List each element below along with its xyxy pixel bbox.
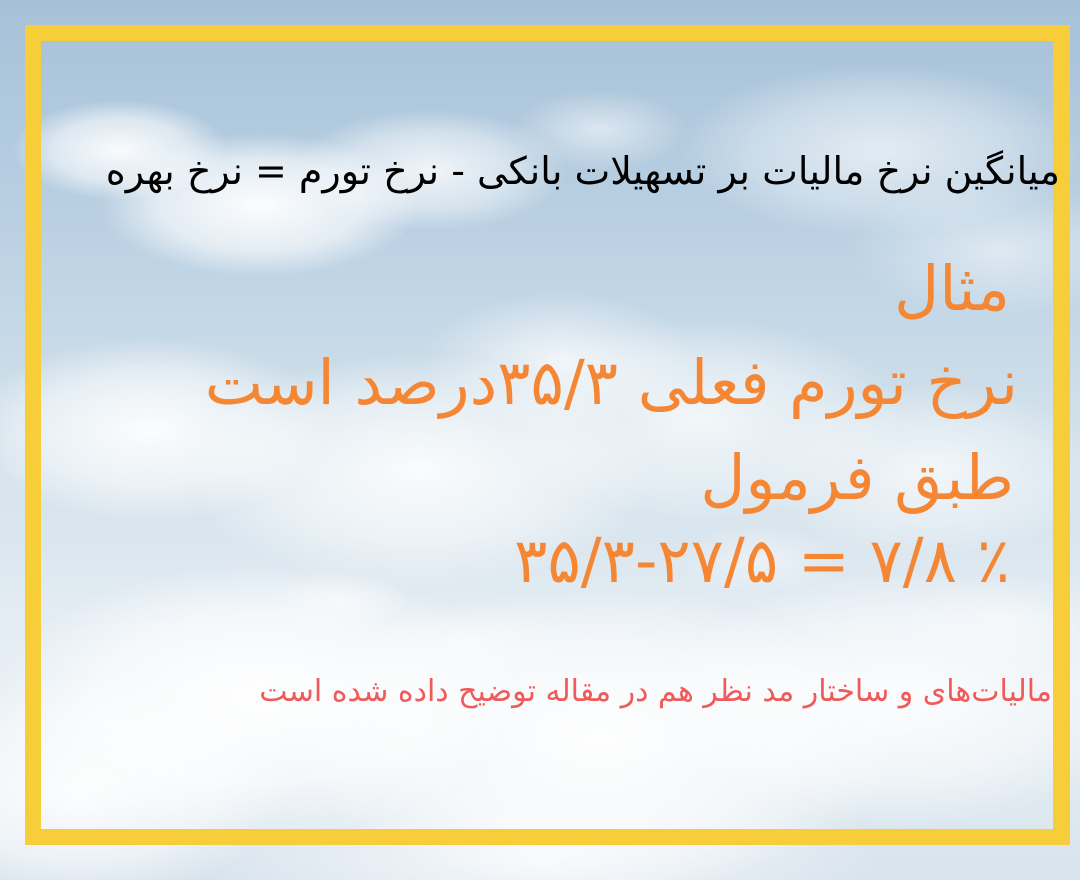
slide-canvas: میانگین نرخ مالیات بر تسهیلات بانکی - نر… (0, 0, 1080, 880)
headline-formula-text: میانگین نرخ مالیات بر تسهیلات بانکی - نر… (106, 152, 1060, 192)
cloud-layer-lower (0, 0, 1080, 880)
footnote-text: ماليات‌های و ساختار مد نظر هم در مقاله ت… (259, 676, 1052, 708)
cloud-background (0, 0, 1080, 880)
formula-label: طبق فرمول (700, 445, 1014, 510)
calculation-equation: ۳۵/۳-۲۷/۵ = ۷/۸ ٪ (514, 528, 1010, 593)
example-heading: مثال (894, 256, 1010, 321)
current-inflation-statement: نرخ تورم فعلی ۳۵/۳درصد است (205, 350, 1018, 415)
